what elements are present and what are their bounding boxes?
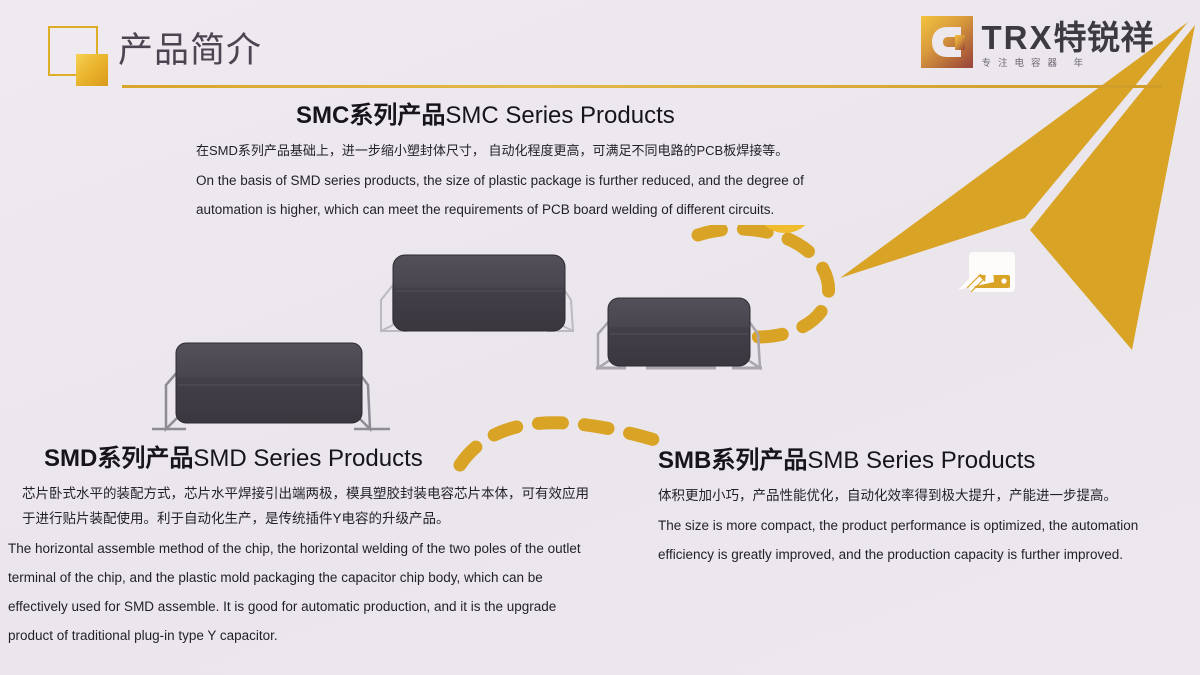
hand-touch-card-icon xyxy=(958,252,1015,292)
section-smd: SMD系列产品SMD Series Products 芯片卧式水平的装配方式，芯… xyxy=(8,444,594,650)
smc-title-cn: SMC系列产品 xyxy=(296,102,445,129)
smc-product-image xyxy=(375,245,590,355)
trx-c-mark-icon xyxy=(921,16,973,68)
smb-body-en: The size is more compact, the product pe… xyxy=(658,511,1178,569)
smd-title-en: SMD Series Products xyxy=(193,445,422,472)
smb-body-cn: 体积更加小巧，产品性能优化，自动化效率得到极大提升，产能进一步提高。 xyxy=(658,483,1178,508)
smb-title-en: SMB Series Products xyxy=(807,447,1035,474)
smc-body-en: On the basis of SMD series products, the… xyxy=(196,166,816,224)
smd-title-cn: SMD系列产品 xyxy=(44,445,193,472)
brand-name-latin: TRX xyxy=(982,19,1054,56)
smc-title-en: SMC Series Products xyxy=(445,102,674,129)
square-filled-icon xyxy=(76,54,108,86)
smb-title: SMB系列产品SMB Series Products xyxy=(658,446,1178,476)
header-square-logo xyxy=(48,26,120,86)
brand-name-cn: 特锐祥 xyxy=(1054,19,1155,56)
smb-product-image xyxy=(588,288,778,383)
header-divider xyxy=(122,85,1162,88)
smd-body-cn: 芯片卧式水平的装配方式，芯片水平焊接引出端两极，模具塑胶封装电容芯片本体，可有效… xyxy=(8,481,594,531)
section-smc: SMC系列产品SMC Series Products 在SMD系列产品基础上，进… xyxy=(196,101,816,224)
brand-logo: TRX特锐祥 专注电容器 年 xyxy=(921,16,1155,82)
slide-header: 产品简介 TRX特锐祥 专注电容器 年 xyxy=(0,0,1200,96)
smc-title: SMC系列产品SMC Series Products xyxy=(196,101,816,131)
smd-title: SMD系列产品SMD Series Products xyxy=(8,444,594,474)
section-smb: SMB系列产品SMB Series Products 体积更加小巧，产品性能优化… xyxy=(658,446,1178,569)
slide-root: 产品简介 TRX特锐祥 专注电容器 年 xyxy=(0,0,1200,675)
brand-tagline: 专注电容器 年 xyxy=(982,58,1155,70)
page-title: 产品简介 xyxy=(118,26,262,76)
smd-body-en: The horizontal assemble method of the ch… xyxy=(8,534,594,650)
smc-body-cn: 在SMD系列产品基础上，进一步缩小塑封体尺寸， 自动化程度更高，可满足不同电路的… xyxy=(196,138,816,164)
smb-title-cn: SMB系列产品 xyxy=(658,447,807,474)
smd-product-image xyxy=(150,335,400,445)
brand-name: TRX特锐祥 xyxy=(982,19,1155,56)
